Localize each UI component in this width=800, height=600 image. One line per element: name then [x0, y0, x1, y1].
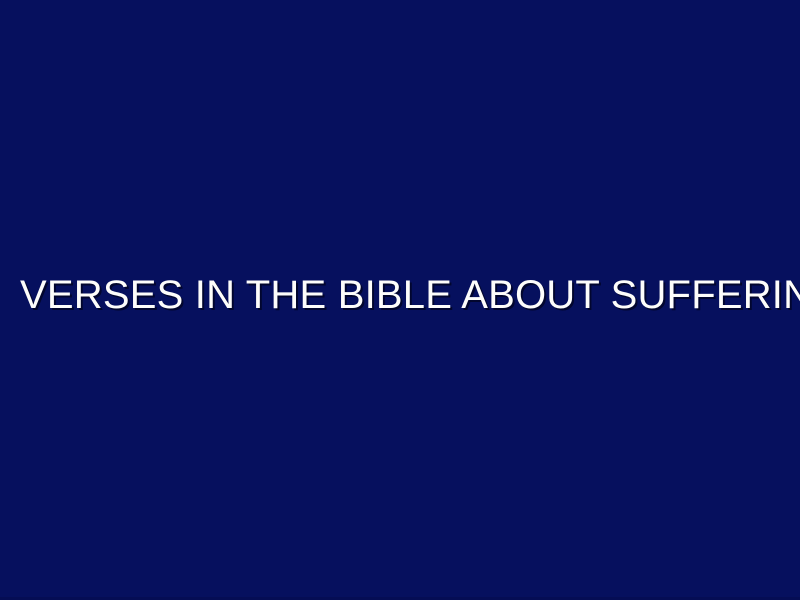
- page-title: VERSES IN THE BIBLE ABOUT SUFFERING: [0, 275, 800, 315]
- title-card: VERSES IN THE BIBLE ABOUT SUFFERING: [0, 0, 800, 600]
